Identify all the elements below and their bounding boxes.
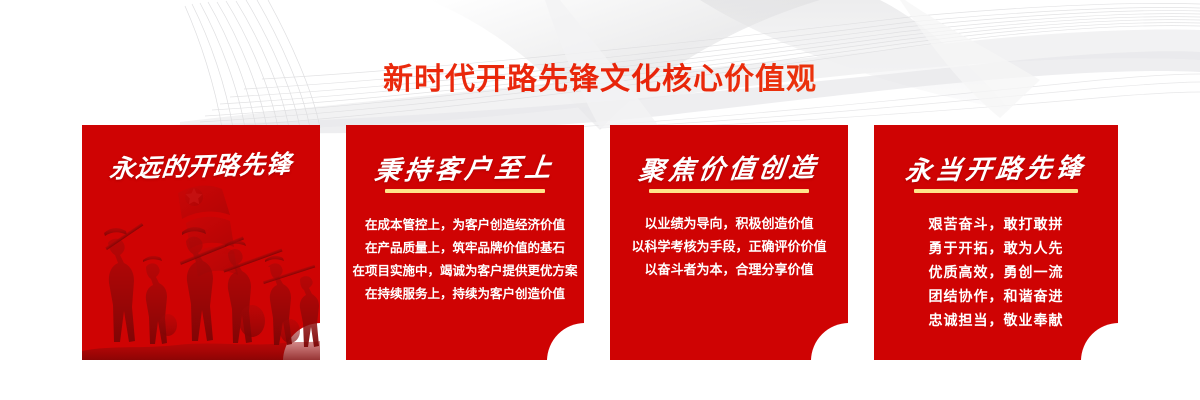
list-item: 以科学考核为手段，正确评价价值 <box>610 236 848 259</box>
corner-cut-decoration <box>811 323 848 360</box>
list-item: 以奋斗者为本，合理分享价值 <box>610 259 848 282</box>
title-underline <box>649 189 809 193</box>
culture-values-banner: 新时代开路先锋文化核心价值观 <box>0 0 1200 400</box>
card-title: 永远的开路先锋 <box>82 144 320 187</box>
card-text-lines: 艰苦奋斗，敢打敢拼 勇于开拓，敢为人先 优质高效，勇创一流 团结协作，和谐奋进 … <box>874 213 1118 333</box>
value-card-always-pioneer[interactable]: 永当开路先锋 艰苦奋斗，敢打敢拼 勇于开拓，敢为人先 优质高效，勇创一流 团结协… <box>874 125 1118 360</box>
list-item: 在产品质量上，筑牢品牌价值的基石 <box>346 236 584 259</box>
pioneer-workers-silhouette-icon <box>82 175 320 360</box>
card-text-lines: 以业绩为导向，积极创造价值 以科学考核为手段，正确评价价值 以奋斗者为本，合理分… <box>610 213 848 282</box>
list-item: 艰苦奋斗，敢打敢拼 <box>874 213 1118 237</box>
value-card-pioneer-forever[interactable]: 永远的开路先锋 <box>82 125 320 360</box>
value-card-value-creation[interactable]: 聚焦价值创造 以业绩为导向，积极创造价值 以科学考核为手段，正确评价价值 以奋斗… <box>610 125 848 360</box>
list-item: 在成本管控上，为客户创造经济价值 <box>346 213 584 236</box>
card-text-lines: 在成本管控上，为客户创造经济价值 在产品质量上，筑牢品牌价值的基石 在项目实施中… <box>346 213 584 305</box>
page-title: 新时代开路先锋文化核心价值观 <box>0 54 1200 98</box>
list-item: 以业绩为导向，积极创造价值 <box>610 213 848 236</box>
card-title: 秉持客户至上 <box>346 147 584 189</box>
card-title: 聚焦价值创造 <box>610 147 848 189</box>
value-cards-row: 永远的开路先锋 秉持客户至上 在成本管控上，为客户创造经济价值 在产品质量上，筑… <box>0 125 1200 360</box>
list-item: 忠诚担当，敬业奉献 <box>874 309 1118 333</box>
card-title: 永当开路先锋 <box>874 146 1118 188</box>
list-item: 团结协作，和谐奋进 <box>874 285 1118 309</box>
value-card-customer-first[interactable]: 秉持客户至上 在成本管控上，为客户创造经济价值 在产品质量上，筑牢品牌价值的基石… <box>346 125 584 360</box>
title-underline <box>385 189 545 193</box>
title-underline <box>914 189 1078 193</box>
list-item: 勇于开拓，敢为人先 <box>874 237 1118 261</box>
list-item: 在项目实施中，竭诚为客户提供更优方案 <box>346 259 584 282</box>
list-item: 在持续服务上，持续为客户创造价值 <box>346 282 584 305</box>
corner-cut-decoration <box>547 323 584 360</box>
list-item: 优质高效，勇创一流 <box>874 261 1118 285</box>
